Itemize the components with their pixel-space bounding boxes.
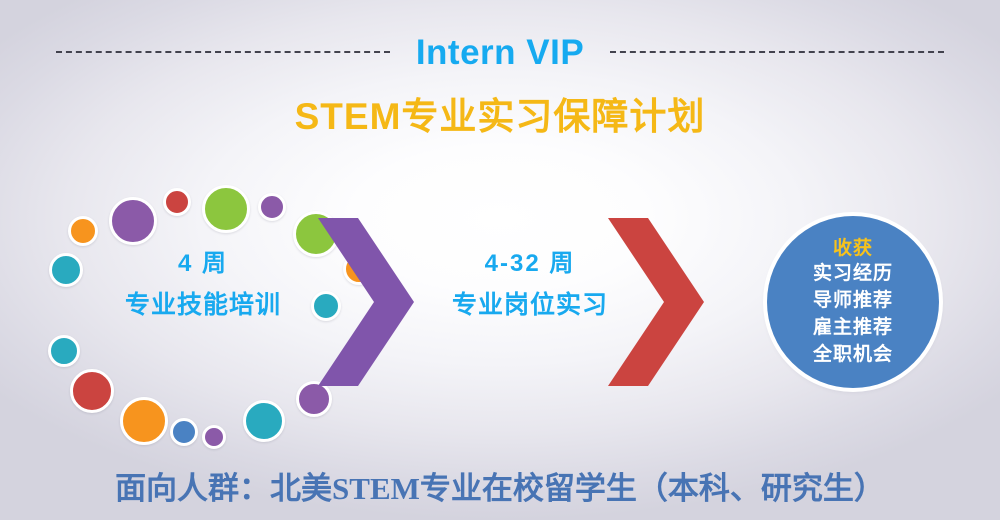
decorative-dot	[68, 216, 98, 246]
decorative-dot	[109, 197, 157, 245]
decorative-dot	[202, 185, 250, 233]
decorative-dot	[170, 418, 198, 446]
arrow-chevron-2	[608, 218, 704, 386]
page-title: Intern VIP	[390, 35, 610, 70]
outcome-item: 实习经历	[813, 261, 893, 288]
outcome-item: 全职机会	[813, 342, 893, 369]
poster-canvas: Intern VIP STEM专业实习保障计划 4 周 专业技能培训 4-32 …	[0, 0, 1000, 520]
header-rule-left	[56, 51, 390, 53]
decorative-dot	[49, 253, 83, 287]
step-training: 4 周 专业技能培训	[88, 247, 318, 323]
decorative-dot	[202, 425, 226, 449]
step-training-duration: 4 周	[88, 247, 318, 280]
decorative-dot	[243, 400, 285, 442]
arrow-chevron-1	[318, 218, 414, 386]
header-row: Intern VIP	[0, 26, 1000, 78]
page-subtitle: STEM专业实习保障计划	[0, 98, 1000, 135]
header-rule-right	[610, 51, 944, 53]
decorative-dot	[163, 188, 191, 216]
outcome-circle: 收获 实习经历 导师推荐 雇主推荐 全职机会	[767, 216, 939, 388]
step-training-label: 专业技能培训	[88, 288, 318, 323]
decorative-dot	[296, 381, 332, 417]
decorative-dot	[258, 193, 286, 221]
decorative-dot	[120, 397, 168, 445]
decorative-dot	[48, 335, 80, 367]
outcome-item: 导师推荐	[813, 288, 893, 315]
audience-footer: 面向人群：北美STEM专业在校留学生（本科、研究生）	[0, 463, 1000, 508]
process-flow: 4 周 专业技能培训 4-32 周 专业岗位实习 收获 实习经历 导师推荐 雇主…	[0, 185, 1000, 420]
outcome-item: 雇主推荐	[813, 315, 893, 342]
outcome-heading: 收获	[833, 237, 873, 261]
decorative-dot	[70, 369, 114, 413]
